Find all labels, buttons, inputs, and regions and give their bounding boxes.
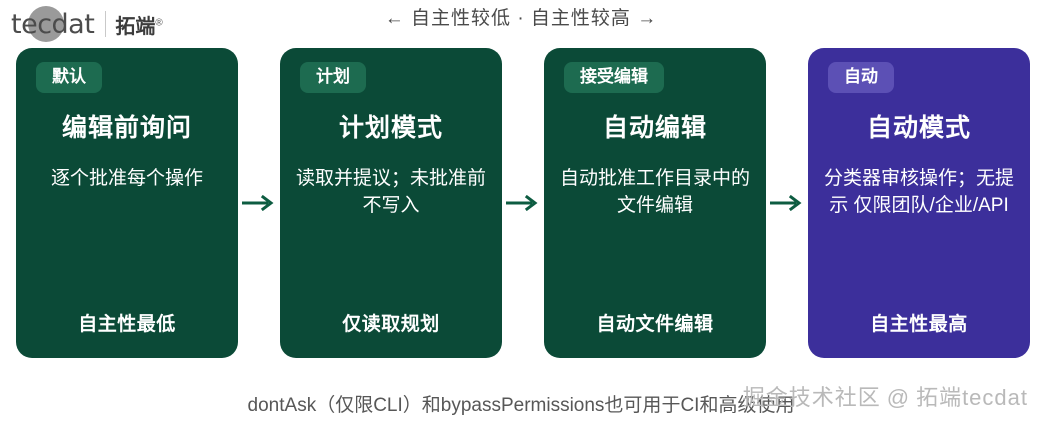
mode-card-auto[interactable]: 自动 自动模式 分类器审核操作；无提示 仅限团队/企业/API 自主性最高 [808, 48, 1030, 358]
mode-autonomy-level: 自动文件编辑 [544, 309, 766, 336]
mode-description: 逐个批准每个操作 [51, 165, 203, 193]
registered-mark-icon: ® [155, 17, 162, 28]
logo-wordmark: tecdat [8, 9, 94, 40]
brand-logo: tecdat 拓端® [8, 4, 198, 44]
arrow-right-icon [766, 48, 808, 358]
watermark-at-symbol: @ [887, 385, 910, 410]
logo-chinese-text: 拓端 [115, 16, 155, 38]
arrow-right-icon [238, 48, 280, 358]
mode-badge: 接受编辑 [564, 62, 664, 93]
mode-title: 计划模式 [339, 113, 443, 143]
mode-description: 自动批准工作目录中的文件编辑 [554, 165, 756, 220]
watermark-author: 拓端tecdat [916, 385, 1028, 410]
mode-autonomy-level: 自主性最高 [808, 309, 1030, 336]
watermark: 掘金技术社区@拓端tecdat [743, 380, 1028, 412]
mode-badge: 默认 [36, 62, 102, 93]
logo-mark: tecdat 拓端® [8, 9, 163, 40]
mode-autonomy-level: 自主性最低 [16, 309, 238, 336]
watermark-site: 掘金技术社区 [743, 385, 881, 410]
mode-title: 自动编辑 [603, 113, 707, 143]
permission-modes-flow: 默认 编辑前询问 逐个批准每个操作 自主性最低 计划 计划模式 读取并提议；未批… [0, 48, 1042, 358]
mode-title: 编辑前询问 [62, 113, 192, 143]
mode-badge: 自动 [828, 62, 894, 93]
mode-title: 自动模式 [867, 113, 971, 143]
mode-description: 分类器审核操作；无提示 仅限团队/企业/API [818, 165, 1020, 220]
mode-badge: 计划 [300, 62, 366, 93]
mode-description: 读取并提议；未批准前不写入 [290, 165, 492, 220]
mode-card-default[interactable]: 默认 编辑前询问 逐个批准每个操作 自主性最低 [16, 48, 238, 358]
mode-card-accept-edits[interactable]: 接受编辑 自动编辑 自动批准工作目录中的文件编辑 自动文件编辑 [544, 48, 766, 358]
mode-autonomy-level: 仅读取规划 [280, 309, 502, 336]
logo-chinese-name: 拓端® [115, 10, 162, 39]
logo-divider [105, 11, 106, 37]
mode-card-plan[interactable]: 计划 计划模式 读取并提议；未批准前不写入 仅读取规划 [280, 48, 502, 358]
arrow-right-icon [502, 48, 544, 358]
